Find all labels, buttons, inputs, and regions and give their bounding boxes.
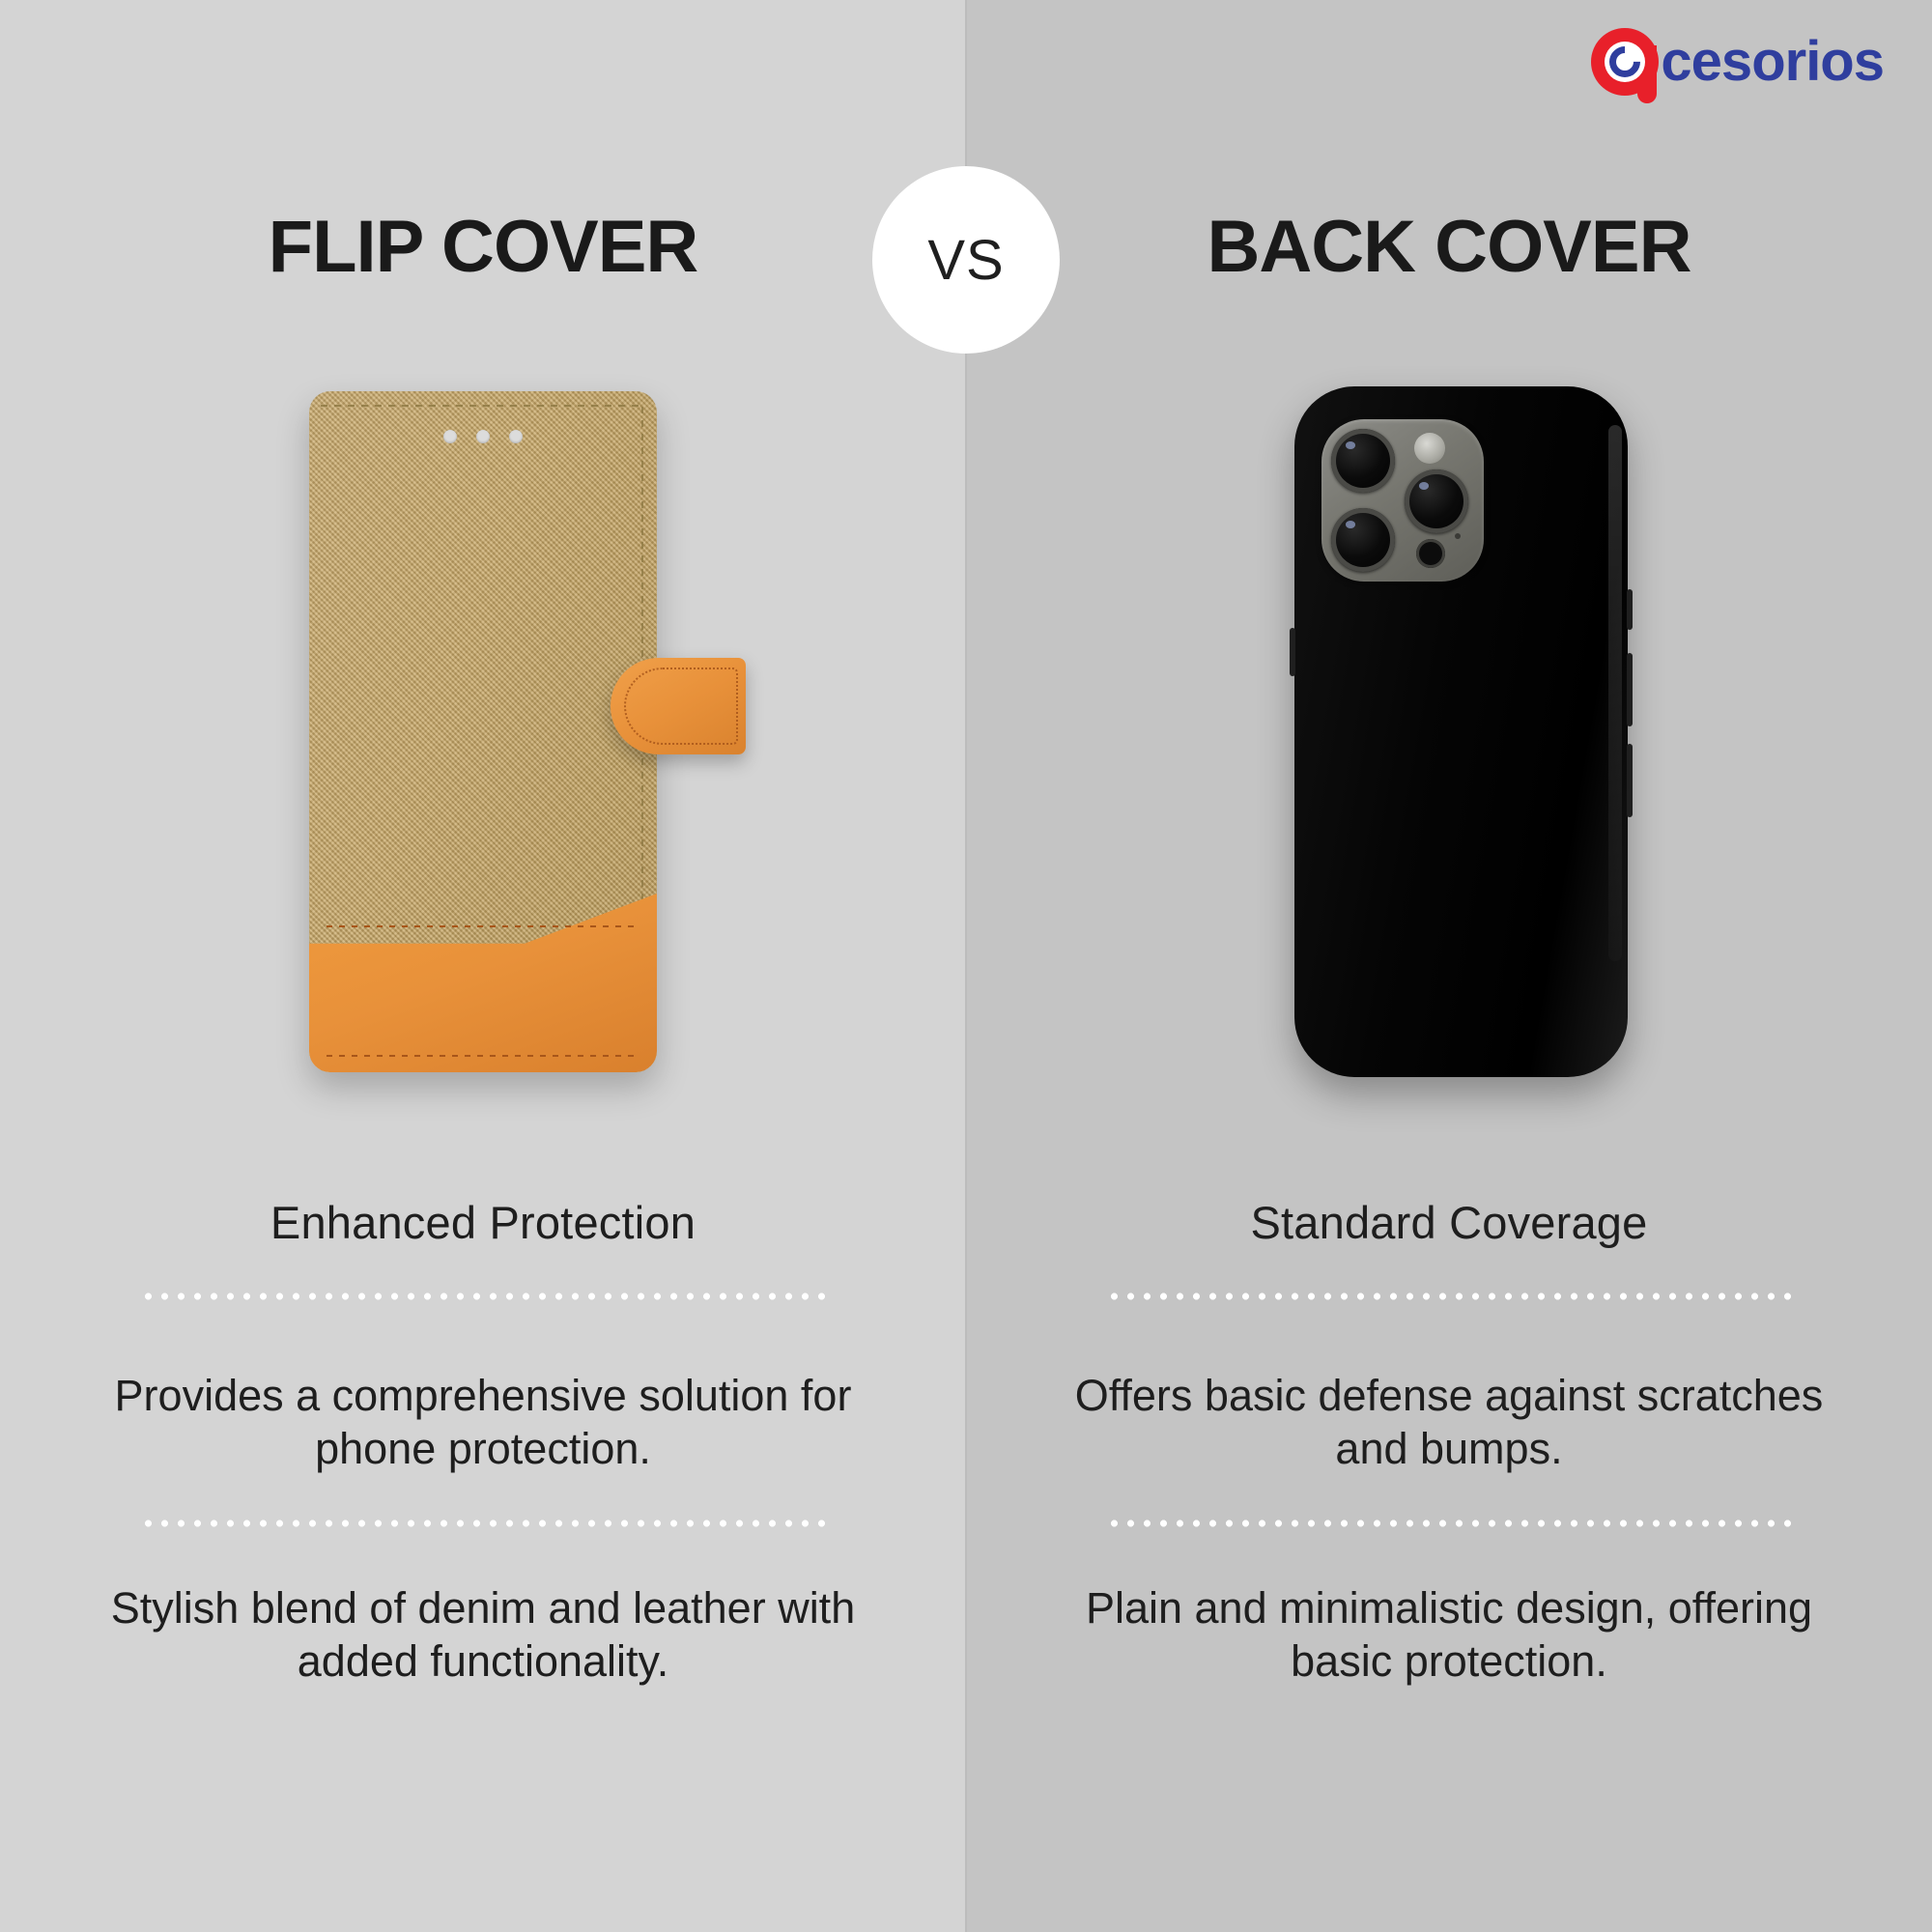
microphone-dot-icon	[1455, 533, 1461, 539]
camera-module	[1321, 419, 1484, 582]
phone-mute-button	[1627, 589, 1633, 630]
flip-cover-top-stitching	[321, 405, 643, 407]
flip-cover-leather-bottom-stitch	[327, 1055, 638, 1057]
logo-a-icon	[1591, 28, 1659, 96]
vs-badge: VS	[872, 166, 1060, 354]
camera-lens-ultrawide	[1331, 508, 1395, 572]
flip-cover-leather-panel	[309, 894, 657, 1072]
flip-cover-leather-top-stitch	[327, 925, 638, 927]
left-separator-2	[140, 1519, 828, 1528]
phone-power-button	[1290, 628, 1295, 676]
flip-cover-magnetic-tab	[611, 658, 746, 754]
left-heading: FLIP COVER	[0, 211, 966, 284]
left-feature-1: Provides a comprehensive solution for ph…	[97, 1370, 869, 1476]
back-cover-edge-highlight	[1608, 425, 1622, 961]
right-heading: BACK COVER	[966, 211, 1932, 284]
camera-lens-telephoto	[1405, 469, 1468, 533]
back-cover-shell	[1294, 386, 1628, 1077]
phone-volume-up-button	[1627, 653, 1633, 726]
phone-volume-down-button	[1627, 744, 1633, 817]
right-subtitle: Standard Coverage	[966, 1196, 1932, 1249]
flip-cover-denim-body	[309, 391, 657, 1072]
left-feature-2: Stylish blend of denim and leather with …	[97, 1582, 869, 1689]
flip-cover-speaker-dots	[443, 430, 523, 443]
right-feature-1: Offers basic defense against scratches a…	[1063, 1370, 1835, 1476]
camera-lens-wide	[1331, 429, 1395, 493]
right-separator-2	[1106, 1519, 1794, 1528]
flip-cover-product-image	[309, 391, 657, 1072]
left-subtitle: Enhanced Protection	[0, 1196, 966, 1249]
flip-cover-tab-stitching	[624, 668, 738, 745]
comparison-infographic: cesorios FLIP COVER BACK COVER VS	[0, 0, 1932, 1932]
right-feature-2: Plain and minimalistic design, offering …	[1063, 1582, 1835, 1689]
right-separator-1	[1106, 1292, 1794, 1301]
camera-flash-icon	[1414, 433, 1445, 464]
brand-name: cesorios	[1661, 34, 1884, 90]
brand-logo: cesorios	[1591, 23, 1884, 100]
lidar-sensor-icon	[1416, 539, 1445, 568]
back-cover-product-image	[1294, 386, 1628, 1077]
left-separator-1	[140, 1292, 828, 1301]
